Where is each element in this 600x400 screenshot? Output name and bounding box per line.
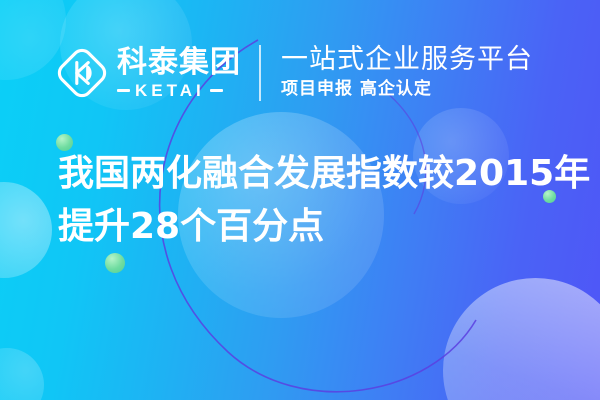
dash-right-icon (210, 89, 223, 92)
ketai-diamond-kd-logo-icon (56, 47, 108, 99)
headline-line-1: 我国两化融合发展指数较2015年 (58, 148, 568, 201)
brand-name-en-row: KETAI (117, 82, 241, 99)
tagline-sub: 项目申报 高企认定 (281, 79, 533, 100)
decorative-circle-left-mid (0, 182, 52, 278)
accent-dot-lower-left (105, 253, 125, 273)
brand-wordmark: 科泰集团 KETAI (117, 47, 241, 99)
headline-line-2: 提升28个百分点 (58, 201, 568, 254)
banner-header: 科泰集团 KETAI 一站式企业服务平台 项目申报 高企认定 (56, 40, 533, 106)
decorative-circle-bottom-left (0, 348, 44, 400)
brand-name-cn: 科泰集团 (117, 47, 241, 79)
promo-banner: 科泰集团 KETAI 一站式企业服务平台 项目申报 高企认定 我国两化融合发展指… (0, 0, 600, 400)
dash-left-icon (117, 89, 130, 92)
decorative-circle-bottom-right (443, 278, 600, 400)
brand-logo[interactable]: 科泰集团 KETAI (56, 47, 241, 99)
headline: 我国两化融合发展指数较2015年 提升28个百分点 (58, 148, 568, 253)
header-divider (259, 45, 261, 101)
brand-name-en: KETAI (135, 82, 205, 99)
tagline-main: 一站式企业服务平台 (281, 45, 533, 75)
tagline-block: 一站式企业服务平台 项目申报 高企认定 (281, 45, 533, 100)
